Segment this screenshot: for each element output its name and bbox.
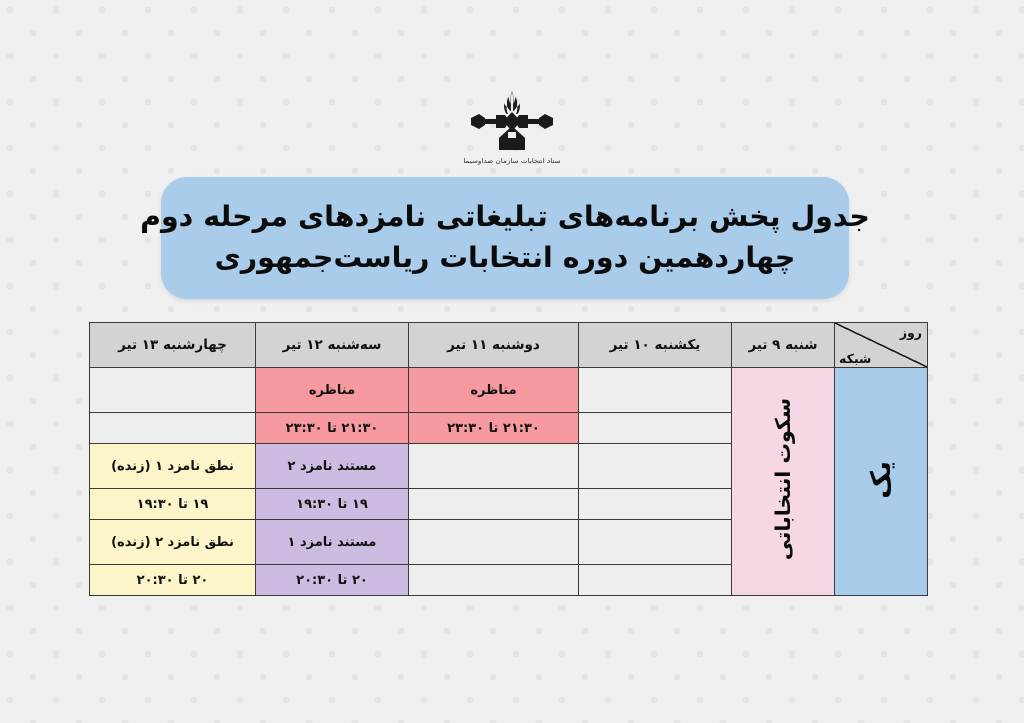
cell-monday-slot-2: [409, 444, 579, 489]
corner-label-day: روز: [900, 325, 922, 340]
corner-header-day-network: روز شبکه: [835, 323, 928, 368]
cell-monday-debate-program: مناظره: [409, 368, 579, 413]
election-silence-cell: سکوت انتخاباتی: [732, 368, 835, 596]
iran-broadcasting-election-hq-emblem-icon: [465, 88, 559, 154]
cell-wednesday-slot-1-time: [90, 413, 256, 444]
cell-sunday-slot-1-time: [579, 413, 732, 444]
cell-wednesday-speech-candidate-2: نطق نامزد ۲ (زنده): [90, 520, 256, 565]
logo-block: ستاد انتخابات سازمان صداوسیما: [0, 88, 1024, 165]
cell-sunday-slot-3-time: [579, 565, 732, 596]
column-header-wednesday-13-tir: چهارشنبه ۱۳ تیر: [90, 323, 256, 368]
cell-tuesday-debate-time: ۲۱:۳۰ تا ۲۳:۳۰: [256, 413, 409, 444]
election-silence-label: سکوت انتخاباتی: [771, 398, 795, 560]
network-channel-label: یک: [866, 461, 897, 499]
logo-caption: ستاد انتخابات سازمان صداوسیما: [0, 156, 1024, 164]
corner-label-network: شبکه: [839, 351, 871, 366]
cell-monday-slot-3: [409, 520, 579, 565]
cell-sunday-slot-3: [579, 520, 732, 565]
column-header-monday-11-tir: دوشنبه ۱۱ تیر: [409, 323, 579, 368]
cell-sunday-slot-2-time: [579, 489, 732, 520]
cell-tuesday-documentary-candidate-1: مستند نامزد ۱: [256, 520, 409, 565]
cell-tuesday-documentary-candidate-1-time: ۲۰ تا ۲۰:۳۰: [256, 565, 409, 596]
cell-sunday-slot-1: [579, 368, 732, 413]
cell-monday-slot-2-time: [409, 489, 579, 520]
page-title-line-1: جدول پخش برنامه‌های تبلیغاتی نامزدهای مر…: [140, 200, 870, 235]
cell-sunday-slot-2: [579, 444, 732, 489]
page-title-line-2: چهاردهمین دوره انتخابات ریاست‌جمهوری: [215, 241, 796, 276]
cell-tuesday-documentary-candidate-2: مستند نامزد ۲: [256, 444, 409, 489]
cell-wednesday-speech-candidate-1-time: ۱۹ تا ۱۹:۳۰: [90, 489, 256, 520]
cell-monday-slot-3-time: [409, 565, 579, 596]
column-header-saturday-9-tir: شنبه ۹ تیر: [732, 323, 835, 368]
cell-monday-debate-time: ۲۱:۳۰ تا ۲۳:۳۰: [409, 413, 579, 444]
table-header-row: روز شبکه شنبه ۹ تیر یکشنبه ۱۰ تیر دوشنبه…: [90, 323, 928, 368]
column-header-tuesday-12-tir: سه‌شنبه ۱۲ تیر: [256, 323, 409, 368]
broadcast-schedule-table: روز شبکه شنبه ۹ تیر یکشنبه ۱۰ تیر دوشنبه…: [89, 322, 928, 596]
cell-wednesday-slot-1: [90, 368, 256, 413]
table-row-program-1: یک سکوت انتخاباتی مناظره مناظره: [90, 368, 928, 413]
cell-wednesday-speech-candidate-2-time: ۲۰ تا ۲۰:۳۰: [90, 565, 256, 596]
cell-tuesday-documentary-candidate-2-time: ۱۹ تا ۱۹:۳۰: [256, 489, 409, 520]
page-title-banner: جدول پخش برنامه‌های تبلیغاتی نامزدهای مر…: [161, 177, 849, 299]
column-header-sunday-10-tir: یکشنبه ۱۰ تیر: [579, 323, 732, 368]
cell-wednesday-speech-candidate-1: نطق نامزد ۱ (زنده): [90, 444, 256, 489]
cell-tuesday-debate-program: مناظره: [256, 368, 409, 413]
network-channel-cell: یک: [835, 368, 928, 596]
